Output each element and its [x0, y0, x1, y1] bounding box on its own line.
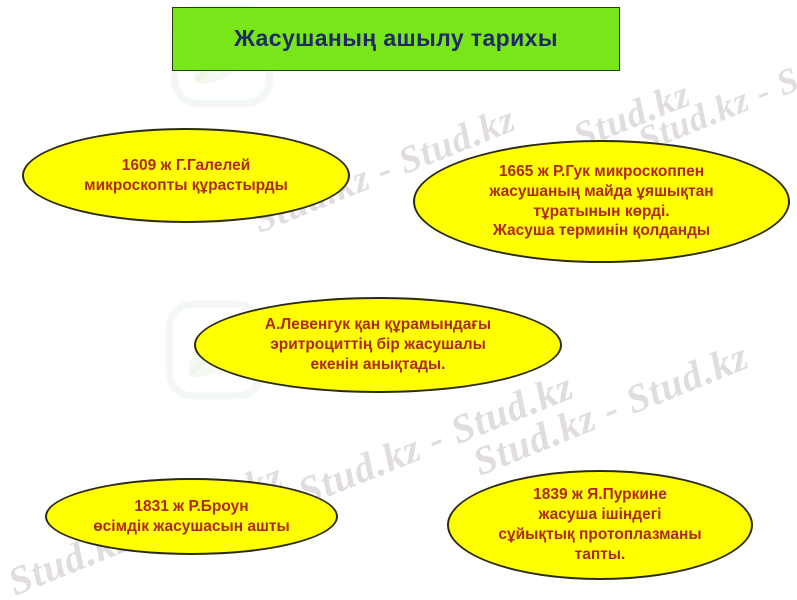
page-title: Жасушаның ашылу тарихы	[234, 26, 558, 51]
node-brown: 1831 ж Р.Броун өсімдік жасушасын ашты	[45, 478, 338, 555]
node-brown-label: 1831 ж Р.Броун өсімдік жасушасын ашты	[85, 497, 298, 537]
node-hooke: 1665 ж Р.Гук микроскоппен жасушаның майд…	[413, 140, 790, 263]
node-galilei-label: 1609 ж Г.Галелей микроскопты құрастырды	[76, 156, 296, 196]
watermark-text: Stud.kz - Stud.kz	[632, 22, 797, 160]
slide-title-box: Жасушаның ашылу тарихы	[172, 7, 620, 71]
node-purkinje: 1839 ж Я.Пуркине жасуша ішіндегі сұйықты…	[447, 470, 753, 580]
slide-canvas: Stud.kz - Stud.kzStud.kz - Stud.kzStud.k…	[0, 0, 797, 600]
node-leeuwenhoek-label: А.Левенгук қан құрамындағы эритроциттің …	[257, 315, 499, 374]
node-hooke-label: 1665 ж Р.Гук микроскоппен жасушаның майд…	[481, 162, 721, 241]
node-purkinje-label: 1839 ж Я.Пуркине жасуша ішіндегі сұйықты…	[490, 485, 709, 564]
node-leeuwenhoek: А.Левенгук қан құрамындағы эритроциттің …	[194, 297, 562, 393]
node-galilei: 1609 ж Г.Галелей микроскопты құрастырды	[22, 128, 350, 223]
